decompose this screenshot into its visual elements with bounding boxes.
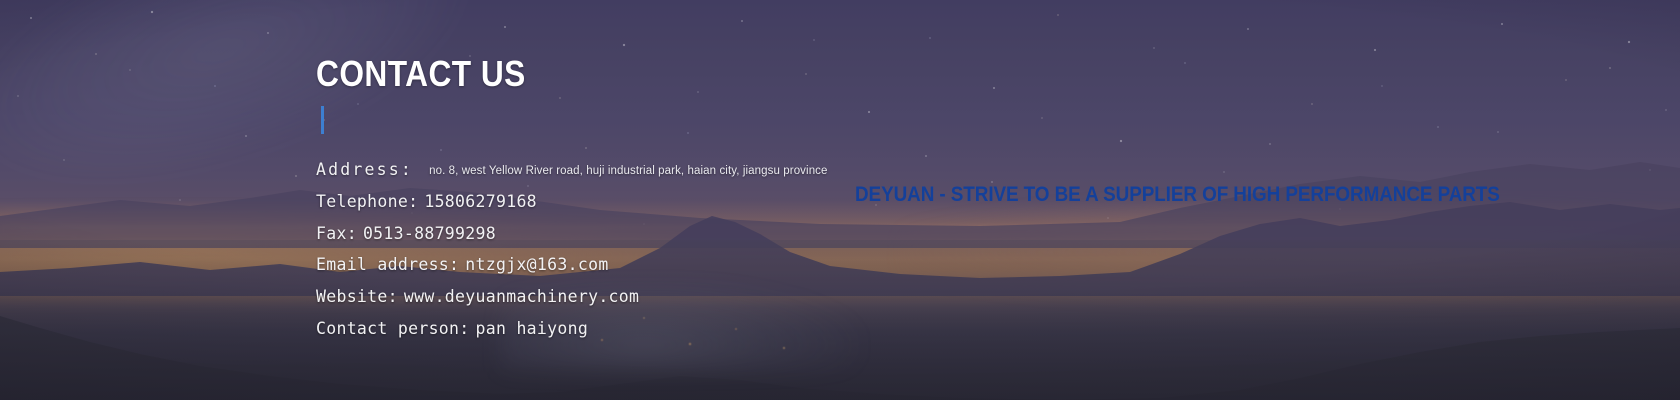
telephone-label: Telephone:	[316, 190, 418, 215]
contact-row-email: Email address: ntzgjx@163.com	[316, 253, 956, 278]
contact-person-value: pan haiyong	[476, 317, 589, 342]
address-label: Address:	[316, 158, 413, 183]
contact-us-banner: CONTACT US Address: no. 8, west Yellow R…	[0, 0, 1680, 400]
contact-row-website: Website: www.deyuanmachinery.com	[316, 285, 956, 310]
title-accent-bar	[321, 106, 324, 134]
contact-person-label: Contact person:	[316, 317, 470, 342]
address-value: no. 8, west Yellow River road, huji indu…	[429, 163, 827, 180]
contact-row-person: Contact person: pan haiyong	[316, 317, 956, 342]
website-label: Website:	[316, 285, 398, 310]
email-label: Email address:	[316, 253, 459, 278]
fax-value: 0513-88799298	[363, 222, 496, 247]
email-value[interactable]: ntzgjx@163.com	[465, 253, 608, 278]
banner-content: CONTACT US Address: no. 8, west Yellow R…	[0, 0, 1680, 400]
fax-label: Fax:	[316, 222, 357, 247]
page-title: CONTACT US	[316, 56, 879, 92]
company-tagline: DEYUAN - STRIVE TO BE A SUPPLIER OF HIGH…	[855, 184, 1500, 205]
telephone-value[interactable]: 15806279168	[424, 190, 537, 215]
contact-row-address: Address: no. 8, west Yellow River road, …	[316, 158, 956, 183]
contact-row-fax: Fax: 0513-88799298	[316, 222, 956, 247]
website-value[interactable]: www.deyuanmachinery.com	[404, 285, 639, 310]
